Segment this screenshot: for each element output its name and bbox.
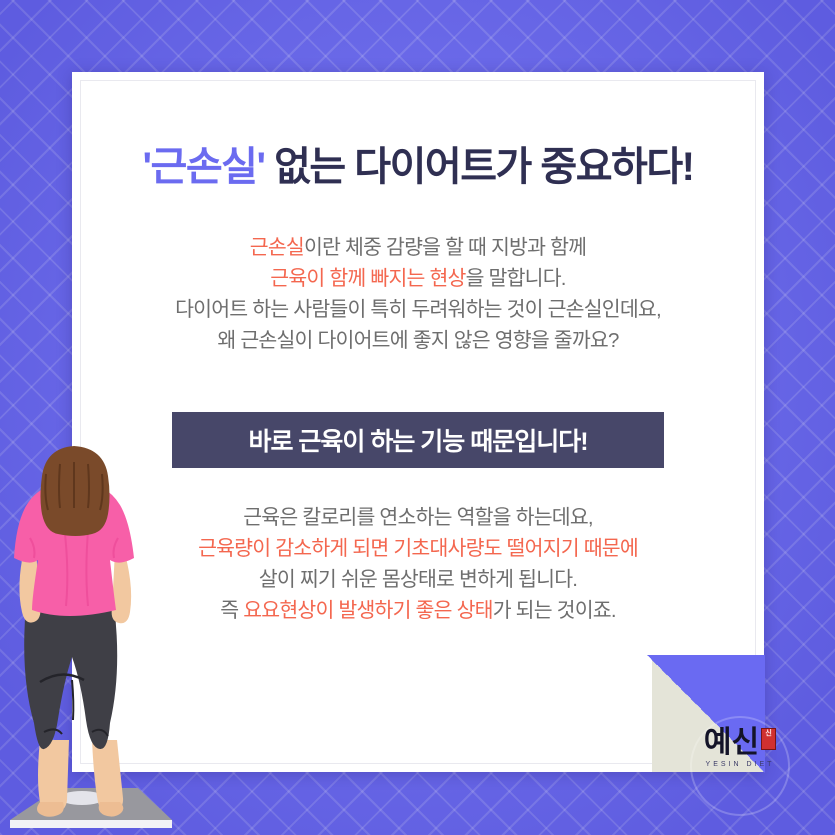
logo-badge: 신 bbox=[761, 728, 776, 750]
pants bbox=[24, 605, 117, 749]
line4-post: 가 되는 것이죠. bbox=[493, 599, 616, 622]
highlight-banner: 바로 근육이 하는 기능 때문입니다! bbox=[172, 412, 664, 468]
weighing-scale-icon bbox=[10, 788, 172, 828]
page-title: '근손실' 없는 다이어트가 중요하다! bbox=[72, 134, 764, 192]
line1-text: 이란 체중 감량을 할 때 지방과 함께 bbox=[304, 236, 586, 259]
logo-subtitle: YESIN DIET bbox=[676, 761, 804, 768]
paragraph-line-2: 근육이 함께 빠지는 현상을 말합니다. bbox=[72, 263, 764, 294]
hair bbox=[41, 446, 110, 536]
paragraph-line-3: 다이어트 하는 사람들이 특히 두려워하는 것이 근손실인데요, bbox=[72, 294, 764, 325]
highlight-banner-text: 바로 근육이 하는 기능 때문입니다! bbox=[248, 422, 587, 458]
line1-highlight: 근손실 bbox=[250, 236, 304, 259]
logo-wordmark: 예신신 bbox=[704, 726, 776, 760]
line4-highlight: 요요현상이 발생하기 좋은 상태 bbox=[243, 599, 492, 622]
line4-pre: 즉 bbox=[220, 599, 243, 622]
title-accent-word: '근손실' bbox=[143, 145, 265, 189]
title-rest: 없는 다이어트가 중요하다! bbox=[264, 145, 693, 189]
illustration-woman-on-scale bbox=[0, 440, 180, 835]
line2-text: 을 말합니다. bbox=[466, 267, 566, 290]
infographic-canvas: '근손실' 없는 다이어트가 중요하다! 근손실이란 체중 감량을 할 때 지방… bbox=[0, 0, 835, 835]
brand-logo[interactable]: 예신신 YESIN DIET bbox=[676, 726, 804, 788]
paragraph-line-4: 왜 근손실이 다이어트에 좋지 않은 영향을 줄까요? bbox=[72, 325, 764, 356]
logo-name-text: 예신 bbox=[704, 726, 759, 759]
paragraph-line-1: 근손실이란 체중 감량을 할 때 지방과 함께 bbox=[72, 232, 764, 263]
line2-highlight: 근육이 함께 빠지는 현상 bbox=[270, 267, 465, 290]
paragraph-definition: 근손실이란 체중 감량을 할 때 지방과 함께 근육이 함께 빠지는 현상을 말… bbox=[72, 232, 764, 356]
